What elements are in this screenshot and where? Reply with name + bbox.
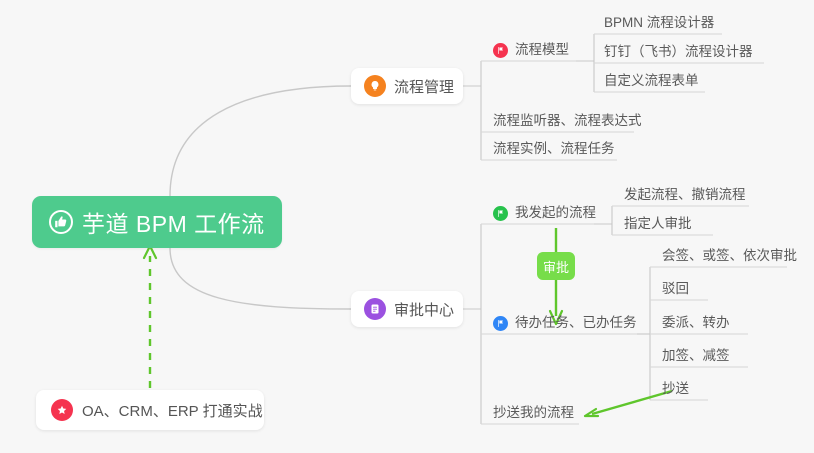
leaf-process-model[interactable]: 流程模型: [493, 42, 569, 63]
leaf-label: 自定义流程表单: [604, 73, 699, 89]
leaf-countersign-approval[interactable]: 会签、或签、依次审批: [662, 248, 797, 269]
leaf-label: 流程模型: [515, 42, 569, 58]
flag-icon: [493, 316, 508, 331]
note-card-integration[interactable]: OA、CRM、ERP 打通实战: [36, 390, 264, 430]
flag-icon: [493, 206, 508, 221]
link-root-to-approval: [170, 248, 351, 309]
leaf-add-remove-sign[interactable]: 加签、减签: [662, 348, 730, 369]
leaf-label: 委派、转办: [662, 315, 730, 331]
thumbs-up-icon: [49, 210, 73, 234]
leaf-label: 钉钉（飞书）流程设计器: [604, 44, 753, 60]
mindmap-canvas: 芋道 BPM 工作流 流程管理 审批中心: [0, 0, 814, 453]
annotation-cc-arrow: [585, 391, 672, 416]
leaf-label: 流程监听器、流程表达式: [493, 113, 642, 129]
clipboard-icon: [364, 298, 386, 320]
link-root-to-process: [170, 86, 351, 196]
leaf-label: 流程实例、流程任务: [493, 141, 615, 157]
leaf-label: 加签、减签: [662, 348, 730, 364]
leaf-assignee-approval[interactable]: 指定人审批: [624, 216, 692, 237]
leaf-reject[interactable]: 驳回: [662, 281, 689, 302]
leaf-label: 会签、或签、依次审批: [662, 248, 797, 264]
leaf-todo-done-tasks[interactable]: 待办任务、已办任务: [493, 315, 637, 336]
leaf-custom-form[interactable]: 自定义流程表单: [604, 73, 699, 94]
branch-node-approval-center[interactable]: 审批中心: [351, 291, 463, 327]
annotation-note-arrow: [144, 246, 156, 388]
leaf-label: 驳回: [662, 281, 689, 297]
root-label: 芋道 BPM 工作流: [82, 205, 265, 239]
root-node[interactable]: 芋道 BPM 工作流: [32, 196, 282, 248]
leaf-process-instance[interactable]: 流程实例、流程任务: [493, 141, 615, 162]
star-icon: [51, 399, 73, 421]
leaf-label: 抄送: [662, 381, 689, 397]
leaf-bpmn-designer[interactable]: BPMN 流程设计器: [604, 15, 714, 36]
leaf-label: BPMN 流程设计器: [604, 15, 714, 31]
leaf-label: 待办任务、已办任务: [515, 315, 637, 331]
leaf-delegate-transfer[interactable]: 委派、转办: [662, 315, 730, 336]
note-card-label: OA、CRM、ERP 打通实战: [82, 400, 263, 421]
leaf-process-listener[interactable]: 流程监听器、流程表达式: [493, 113, 642, 134]
leaf-cc-to-me-process[interactable]: 抄送我的流程: [493, 405, 574, 426]
lightbulb-icon: [364, 75, 386, 97]
branch-label-approval-center: 审批中心: [394, 299, 454, 320]
leaf-label: 抄送我的流程: [493, 405, 574, 421]
branch-node-process-management[interactable]: 流程管理: [351, 68, 463, 104]
leaf-my-initiated-process[interactable]: 我发起的流程: [493, 205, 596, 226]
leaf-cc[interactable]: 抄送: [662, 381, 689, 402]
leaf-label: 发起流程、撤销流程: [624, 187, 746, 203]
leaf-label: 指定人审批: [624, 216, 692, 232]
leaf-label: 我发起的流程: [515, 205, 596, 221]
flag-icon: [493, 43, 508, 58]
approval-badge-label: 审批: [543, 257, 569, 276]
branch-label-process-management: 流程管理: [394, 76, 454, 97]
leaf-start-cancel-process[interactable]: 发起流程、撤销流程: [624, 187, 746, 208]
leaf-dingtalk-designer[interactable]: 钉钉（飞书）流程设计器: [604, 44, 753, 65]
approval-badge: 审批: [537, 252, 575, 280]
